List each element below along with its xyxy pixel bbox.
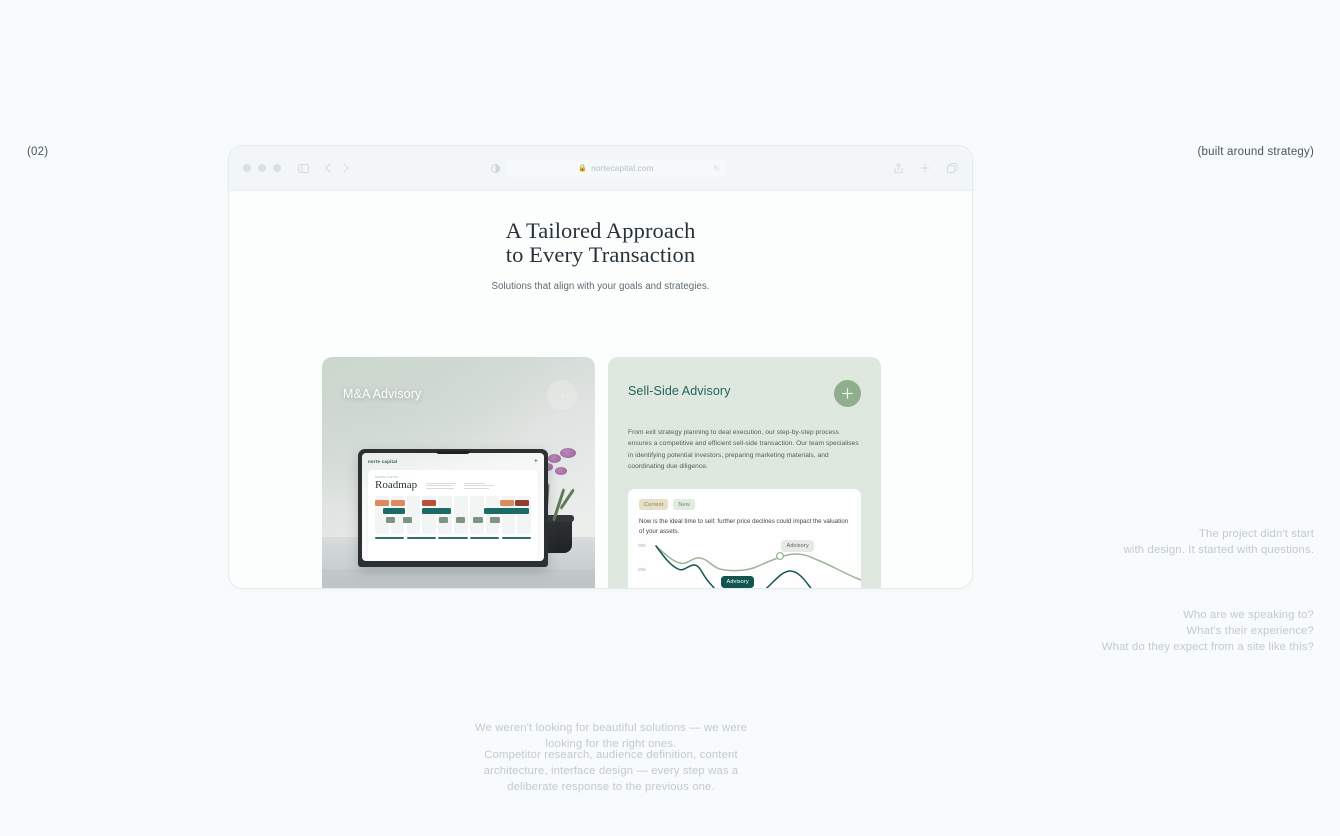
close-window-button[interactable] xyxy=(243,164,251,172)
section-number-label: (02) xyxy=(27,146,48,158)
reader-view-icon[interactable] xyxy=(491,164,500,173)
narrative-question-2: What's their experience? xyxy=(1102,623,1314,639)
page-title-line-1: A Tailored Approach xyxy=(229,219,972,243)
card-sell-side-advisory[interactable]: Sell-Side Advisory From exit strategy pl… xyxy=(608,357,881,589)
address-bar[interactable]: 🔒 nortecapital.com ↻ xyxy=(505,160,727,177)
narrative-bottom-block-2: Competitor research, audience definition… xyxy=(468,747,754,795)
back-arrow-icon[interactable] xyxy=(325,163,331,173)
url-text: nortecapital.com xyxy=(591,163,653,173)
browser-chrome: 🔒 nortecapital.com ↻ xyxy=(229,146,972,191)
share-icon[interactable] xyxy=(894,163,903,174)
series-new-line xyxy=(656,546,861,589)
reload-icon[interactable]: ↻ xyxy=(713,164,720,173)
valuation-chart-panel: Current New Now is the ideal time to sel… xyxy=(628,489,861,589)
card-body-sell-side: From exit strategy planning to deal exec… xyxy=(628,427,861,472)
plus-icon xyxy=(841,387,854,400)
expand-card-ma-button[interactable] xyxy=(547,380,577,410)
service-cards: norte capital + NORTE CAPITAL Roadmap xyxy=(322,357,881,589)
site-header: A Tailored Approach to Every Transaction… xyxy=(229,191,972,292)
page-title: A Tailored Approach to Every Transaction xyxy=(229,219,972,268)
chart-legend-chips: Current New xyxy=(639,499,850,510)
browser-toolbar-right xyxy=(894,163,958,174)
narrative-question-1: Who are we speaking to? xyxy=(1102,607,1314,623)
minimize-window-button[interactable] xyxy=(258,164,266,172)
laptop-mockup: norte capital + NORTE CAPITAL Roadmap xyxy=(358,449,548,567)
current-series-marker xyxy=(777,553,784,560)
section-tagline-label: (built around strategy) xyxy=(1198,146,1314,158)
screen-plus-icon: + xyxy=(534,458,538,465)
card-ma-advisory[interactable]: norte capital + NORTE CAPITAL Roadmap xyxy=(322,357,595,589)
tooltip-new-advisory: Advisory xyxy=(721,576,754,588)
maximize-window-button[interactable] xyxy=(273,164,281,172)
laptop-brand-label: norte capital xyxy=(368,459,397,464)
browser-nav-arrows[interactable] xyxy=(325,163,349,173)
tooltip-current-advisory: Advisory xyxy=(781,540,814,552)
site-viewport: A Tailored Approach to Every Transaction… xyxy=(229,191,972,589)
chip-new[interactable]: New xyxy=(673,499,695,510)
narrative-right-block-1: The project didn't start with design. It… xyxy=(1124,526,1314,558)
valuation-line-chart: 30k 20k 10k Advisory xyxy=(628,541,861,589)
desk-front xyxy=(322,569,595,589)
narrative-question-3: What do they expect from a site like thi… xyxy=(1102,639,1314,655)
roadmap-panel: NORTE CAPITAL Roadmap xyxy=(368,470,538,561)
narrative-right-1-line-2: with design. It started with questions. xyxy=(1124,542,1314,558)
page-root: (02) (built around strategy) xyxy=(0,0,1340,836)
tabs-overview-icon[interactable] xyxy=(947,163,958,173)
card-title-ma-advisory: M&A Advisory xyxy=(343,387,421,401)
roadmap-legend xyxy=(375,537,531,541)
new-tab-plus-icon[interactable] xyxy=(920,163,930,173)
lock-icon: 🔒 xyxy=(578,164,587,172)
window-traffic-lights[interactable] xyxy=(243,164,281,172)
laptop-screen: norte capital + NORTE CAPITAL Roadmap xyxy=(362,453,544,561)
roadmap-notes xyxy=(426,476,494,490)
roadmap-title: Roadmap xyxy=(375,480,417,491)
chip-current[interactable]: Current xyxy=(639,499,668,510)
page-title-line-2: to Every Transaction xyxy=(229,243,972,267)
browser-window: 🔒 nortecapital.com ↻ xyxy=(228,145,973,589)
plus-icon xyxy=(555,388,570,403)
roadmap-gantt-chart xyxy=(375,496,531,534)
narrative-right-block-2: Who are we speaking to? What's their exp… xyxy=(1102,607,1314,655)
forward-arrow-icon[interactable] xyxy=(343,163,349,173)
narrative-right-1-line-1: The project didn't start xyxy=(1124,526,1314,542)
expand-card-sell-side-button[interactable] xyxy=(834,380,861,407)
sidebar-toggle-icon[interactable] xyxy=(298,164,309,173)
chart-note-text: Now is the ideal time to sell: further p… xyxy=(639,517,850,536)
card-title-sell-side: Sell-Side Advisory xyxy=(628,384,731,398)
page-subtitle: Solutions that align with your goals and… xyxy=(229,281,972,292)
